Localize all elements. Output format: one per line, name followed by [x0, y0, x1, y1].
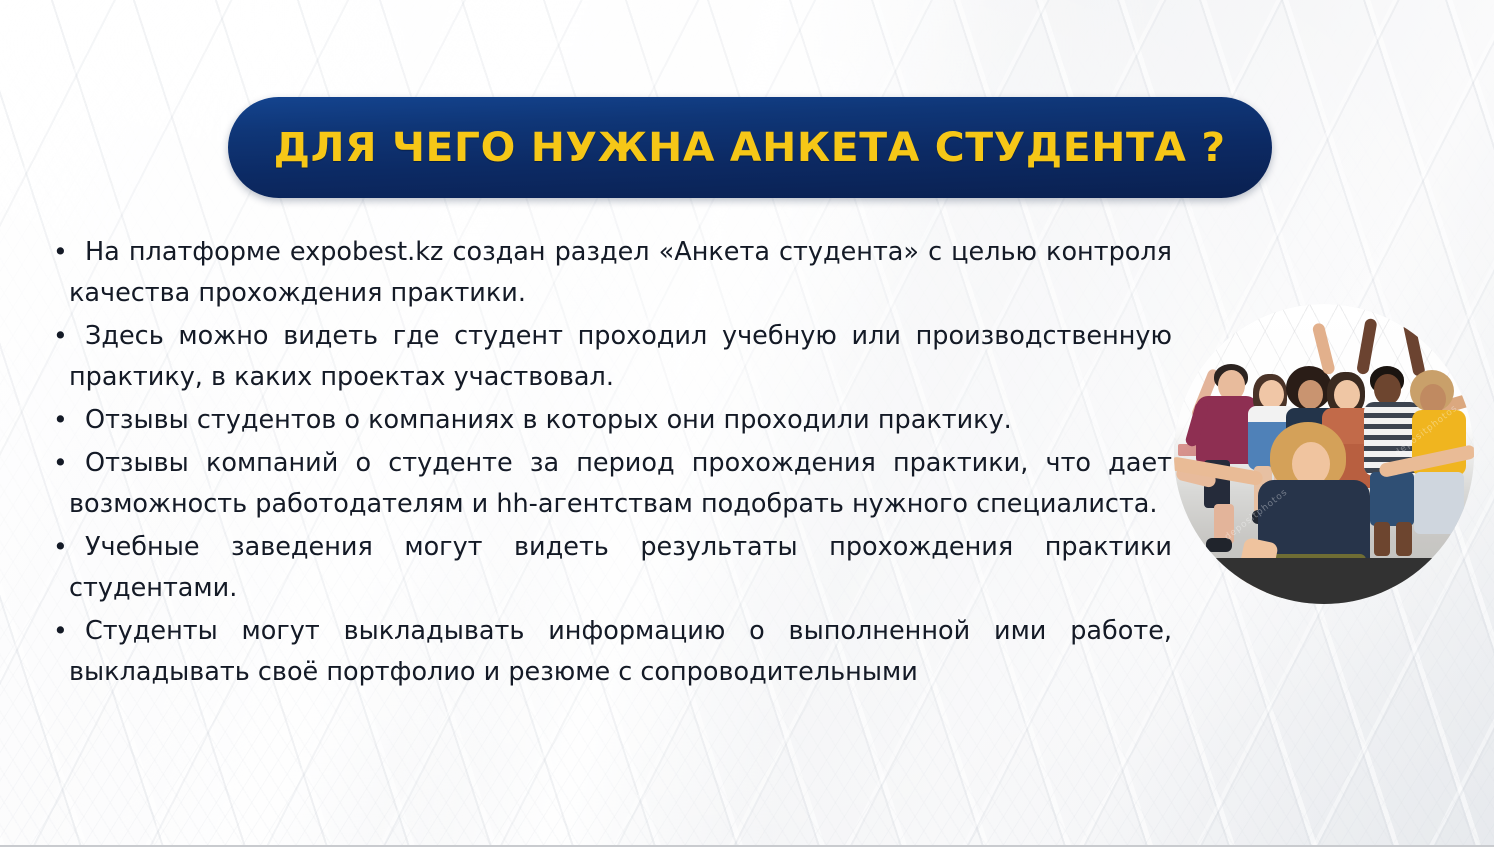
students-photo: depositphotos depositphotos — [1174, 304, 1474, 604]
bullet-marker-icon: • — [47, 400, 69, 440]
bullet-marker-icon: • — [47, 527, 69, 567]
bullet-marker-icon: • — [47, 316, 69, 356]
bullet-list: • На платформе expobest.kz создан раздел… — [47, 232, 1172, 695]
photo-watermark-band — [1174, 558, 1474, 604]
list-item: • Студенты могут выкладывать информацию … — [47, 611, 1172, 693]
presentation-slide: ДЛЯ ЧЕГО НУЖНА АНКЕТА СТУДЕНТА ? • На пл… — [0, 0, 1494, 847]
bullet-marker-icon: • — [47, 611, 69, 651]
bullet-marker-icon: • — [47, 232, 69, 272]
bullet-text: На платформе expobest.kz создан раздел «… — [69, 232, 1172, 314]
list-item: • На платформе expobest.kz создан раздел… — [47, 232, 1172, 314]
bullet-text: Здесь можно видеть где студент проходил … — [69, 316, 1172, 398]
list-item: • Отзывы компаний о студенте за период п… — [47, 443, 1172, 525]
bullet-text: Отзывы студентов о компаниях в которых о… — [69, 400, 1172, 441]
photo-scene: depositphotos depositphotos — [1174, 304, 1474, 604]
bullet-marker-icon: • — [47, 443, 69, 483]
slide-title-banner: ДЛЯ ЧЕГО НУЖНА АНКЕТА СТУДЕНТА ? — [228, 97, 1272, 198]
bullet-text: Студенты могут выкладывать информацию о … — [69, 611, 1172, 693]
bullet-text: Отзывы компаний о студенте за период про… — [69, 443, 1172, 525]
page-title: ДЛЯ ЧЕГО НУЖНА АНКЕТА СТУДЕНТА ? — [274, 125, 1226, 171]
list-item: • Учебные заведения могут видеть результ… — [47, 527, 1172, 609]
list-item: • Отзывы студентов о компаниях в которых… — [47, 400, 1172, 441]
list-item: • Здесь можно видеть где студент проходи… — [47, 316, 1172, 398]
bullet-text: Учебные заведения могут видеть результат… — [69, 527, 1172, 609]
